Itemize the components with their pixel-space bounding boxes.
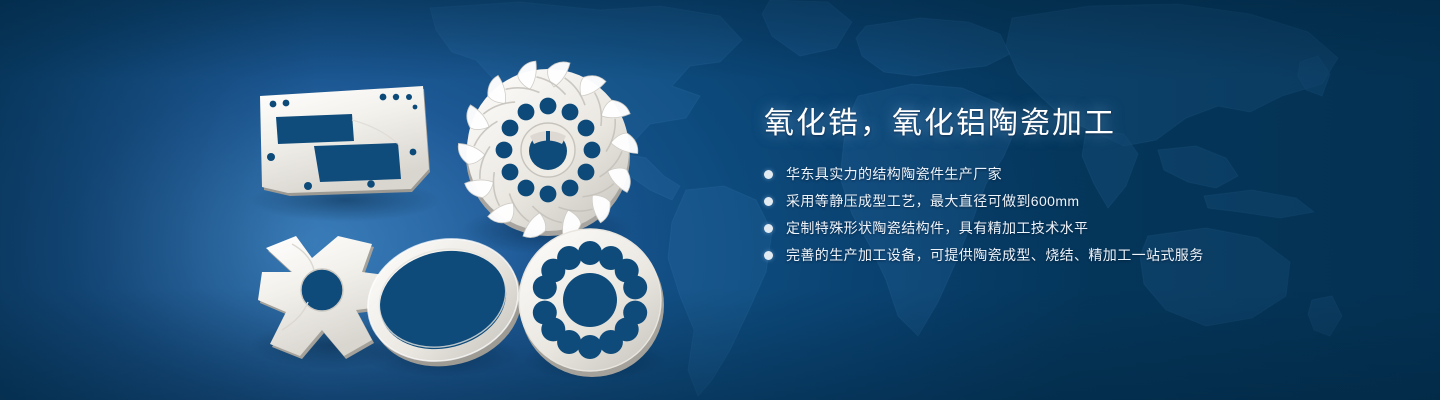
banner-headline: 氧化锆，氧化铝陶瓷加工: [764, 104, 1384, 144]
feature-text: 完善的生产加工设备，可提供陶瓷成型、烧结、精加工一站式服务: [786, 244, 1204, 266]
list-item: 定制特殊形状陶瓷结构件，具有精加工技术水平: [764, 217, 1384, 239]
part-mounting-plate: [260, 86, 430, 196]
part-impeller-disc: [457, 60, 638, 239]
list-item: 采用等静压成型工艺，最大直径可做到600mm: [764, 190, 1384, 212]
feature-text: 定制特殊形状陶瓷结构件，具有精加工技术水平: [786, 217, 1088, 239]
bullet-dot-icon: [764, 224, 773, 233]
feature-list: 华东具实力的结构陶瓷件生产厂家 采用等静压成型工艺，最大直径可做到600mm 定…: [764, 163, 1384, 266]
list-item: 华东具实力的结构陶瓷件生产厂家: [764, 163, 1384, 185]
ceramic-products-image: [0, 0, 740, 400]
feature-text: 华东具实力的结构陶瓷件生产厂家: [786, 163, 1002, 185]
feature-text: 采用等静压成型工艺，最大直径可做到600mm: [786, 190, 1079, 212]
hero-banner: 氧化锆，氧化铝陶瓷加工 华东具实力的结构陶瓷件生产厂家 采用等静压成型工艺，最大…: [0, 0, 1440, 400]
bullet-dot-icon: [764, 197, 773, 206]
bullet-dot-icon: [764, 170, 773, 179]
part-perforated-disc: [519, 229, 664, 377]
list-item: 完善的生产加工设备，可提供陶瓷成型、烧结、精加工一站式服务: [764, 244, 1384, 266]
bullet-dot-icon: [764, 251, 773, 260]
banner-copy: 氧化锆，氧化铝陶瓷加工 华东具实力的结构陶瓷件生产厂家 采用等静压成型工艺，最大…: [764, 104, 1384, 282]
